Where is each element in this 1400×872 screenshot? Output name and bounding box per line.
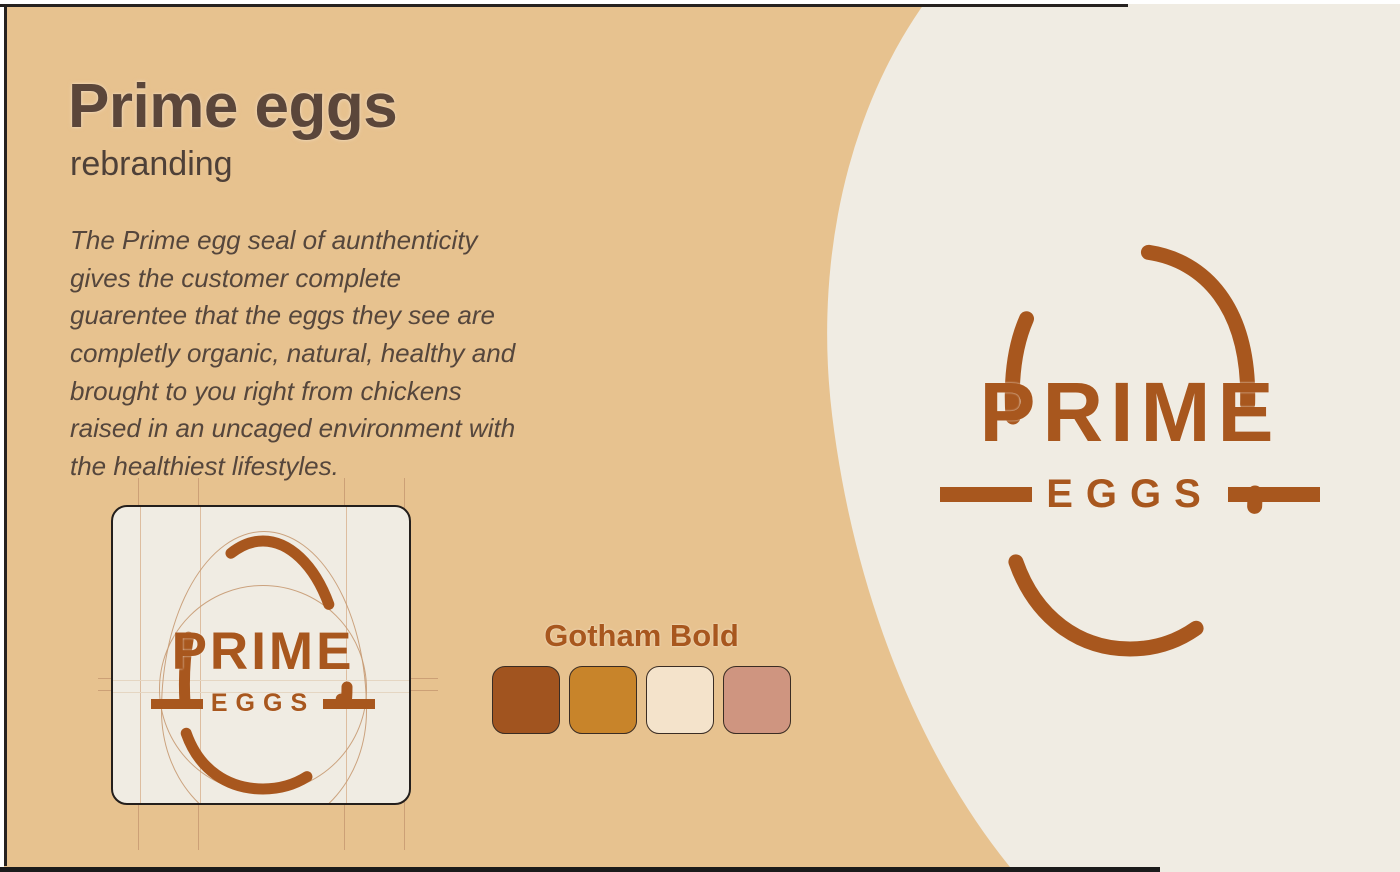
logo-mark-large: PRIME EGGS — [905, 235, 1355, 665]
color-swatch[interactable] — [646, 666, 714, 734]
description-line: brought to you right from chickens — [70, 373, 690, 411]
logo-construction-diagram: PRIME EGGS — [98, 478, 438, 850]
logo-subword: EGGS — [203, 689, 323, 718]
logo-bar-left — [940, 487, 1032, 502]
logo-eggs-row: EGGS — [113, 689, 411, 718]
page-subtitle: rebranding — [70, 145, 233, 184]
slide-edge-left — [0, 0, 4, 872]
presentation-slide: Prime eggs rebranding The Prime egg seal… — [0, 0, 1400, 872]
description-line: guarentee that the eggs they see are — [70, 297, 690, 335]
description-text: The Prime egg seal of aunthenticity give… — [70, 222, 690, 486]
logo-bar-left — [151, 699, 203, 709]
color-swatch[interactable] — [492, 666, 560, 734]
color-swatch[interactable] — [723, 666, 791, 734]
slide-border-bottom — [0, 867, 1160, 872]
logo-wordmark: PRIME — [905, 370, 1355, 454]
brand-palette: Gotham Bold — [492, 618, 791, 734]
logo-mark-small: PRIME EGGS — [113, 507, 411, 805]
description-line: The Prime egg seal of aunthenticity — [70, 222, 690, 260]
logo-wordmark: PRIME — [113, 625, 411, 678]
logo-subword: EGGS — [1032, 472, 1228, 517]
description-line: raised in an uncaged environment with — [70, 410, 690, 448]
color-swatch-row — [492, 666, 791, 734]
font-name-label: Gotham Bold — [492, 618, 791, 654]
description-line: completly organic, natural, healthy and — [70, 335, 690, 373]
description-line: the healthiest lifestyles. — [70, 448, 690, 486]
logo-bar-right — [1228, 487, 1320, 502]
description-line: gives the customer complete — [70, 260, 690, 298]
logo-eggs-row: EGGS — [905, 472, 1355, 517]
slide-border-left — [4, 4, 7, 866]
page-title: Prime eggs — [68, 76, 397, 138]
logo-card: PRIME EGGS — [111, 505, 411, 805]
logo-bar-right — [323, 699, 375, 709]
color-swatch[interactable] — [569, 666, 637, 734]
